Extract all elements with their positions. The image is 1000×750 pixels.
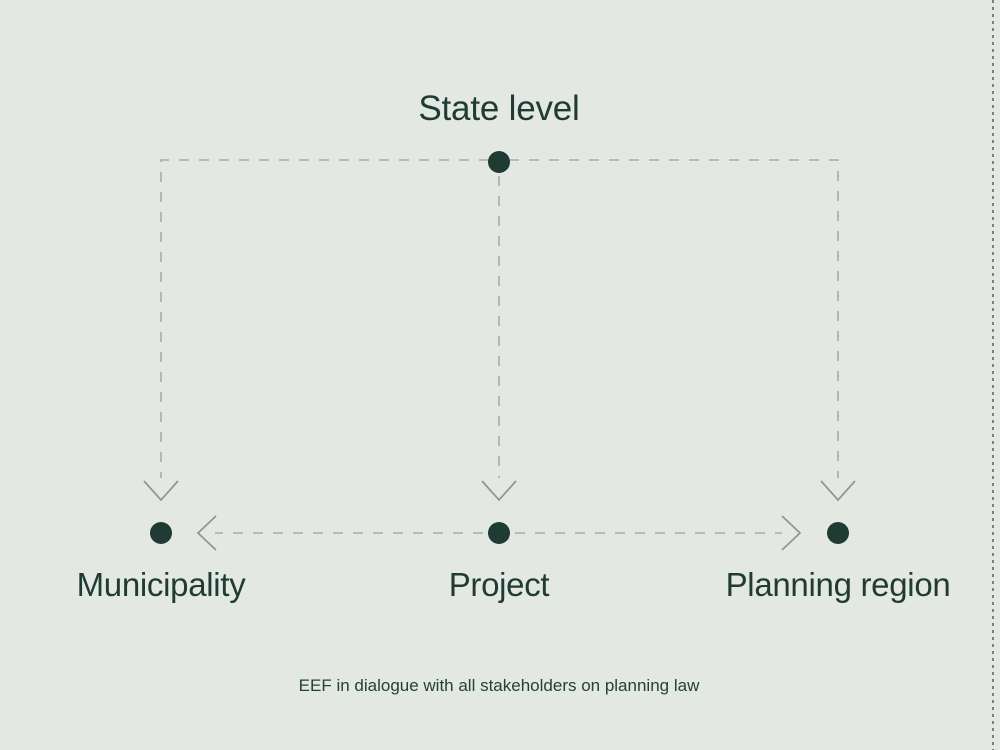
node-dot-planning-region[interactable] (827, 522, 849, 544)
connector-state-to-municipality (161, 160, 489, 478)
node-dot-state-level[interactable] (488, 151, 510, 173)
node-label-project: Project (449, 566, 550, 604)
diagram-canvas: State level Municipality Project Plannin… (0, 0, 1000, 750)
diagram-title: State level (418, 89, 579, 129)
connector-state-to-planning-region (509, 160, 838, 478)
arrowhead-down-planning-region (821, 481, 855, 500)
node-dot-project[interactable] (488, 522, 510, 544)
arrowhead-left-municipality (198, 516, 216, 550)
diagram-caption: EEF in dialogue with all stakeholders on… (299, 676, 700, 696)
node-layer (150, 151, 849, 544)
arrowhead-down-project (482, 481, 516, 500)
node-label-municipality: Municipality (77, 566, 246, 604)
node-dot-municipality[interactable] (150, 522, 172, 544)
connector-layer (161, 160, 838, 533)
arrowhead-right-planning-region (782, 516, 800, 550)
arrowhead-down-municipality (144, 481, 178, 500)
node-label-planning-region: Planning region (726, 566, 951, 604)
